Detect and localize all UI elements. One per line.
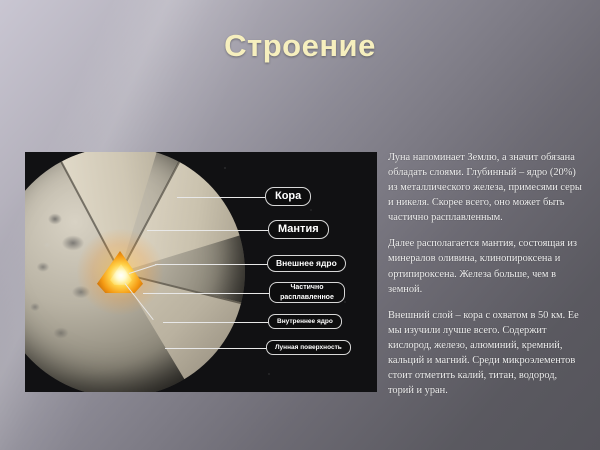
leader-line-inner-core [163, 322, 269, 323]
callout-label: Внутреннее ядро [277, 318, 333, 325]
callout-mantle[interactable]: Мантия [268, 220, 329, 239]
callout-label: Частично расплавленное [278, 283, 336, 302]
body-text-block: Луна напоминает Землю, а значит обязана … [388, 150, 584, 398]
body-paragraph: Далее располагается мантия, состоящая из… [388, 236, 584, 296]
callout-label: Мантия [278, 223, 319, 236]
callout-label: Лунная поверхность [275, 344, 342, 351]
leader-line-lunar-surface [165, 348, 267, 349]
callout-label: Кора [275, 190, 301, 203]
presentation-slide: Строение Кора [0, 0, 600, 450]
leader-line-crust [177, 197, 265, 198]
callout-lunar-surface[interactable]: Лунная поверхность [266, 340, 351, 355]
page-title: Строение [0, 28, 600, 64]
callout-partially-molten[interactable]: Частично расплавленное [269, 282, 345, 303]
callout-label: Внешнее ядро [276, 259, 337, 269]
leader-line-mantle [147, 230, 269, 231]
body-paragraph: Внешний слой – кора с охватом в 50 км. Е… [388, 308, 584, 398]
callout-outer-core[interactable]: Внешнее ядро [267, 255, 346, 272]
callout-inner-core[interactable]: Внутреннее ядро [268, 314, 342, 329]
leader-line-outer-core [155, 264, 268, 265]
callout-crust[interactable]: Кора [265, 187, 311, 206]
body-paragraph: Луна напоминает Землю, а значит обязана … [388, 150, 584, 225]
leader-line-partially-molten [143, 293, 270, 294]
moon-structure-diagram: Кора Мантия Внешнее ядро Частично распла… [25, 152, 377, 392]
